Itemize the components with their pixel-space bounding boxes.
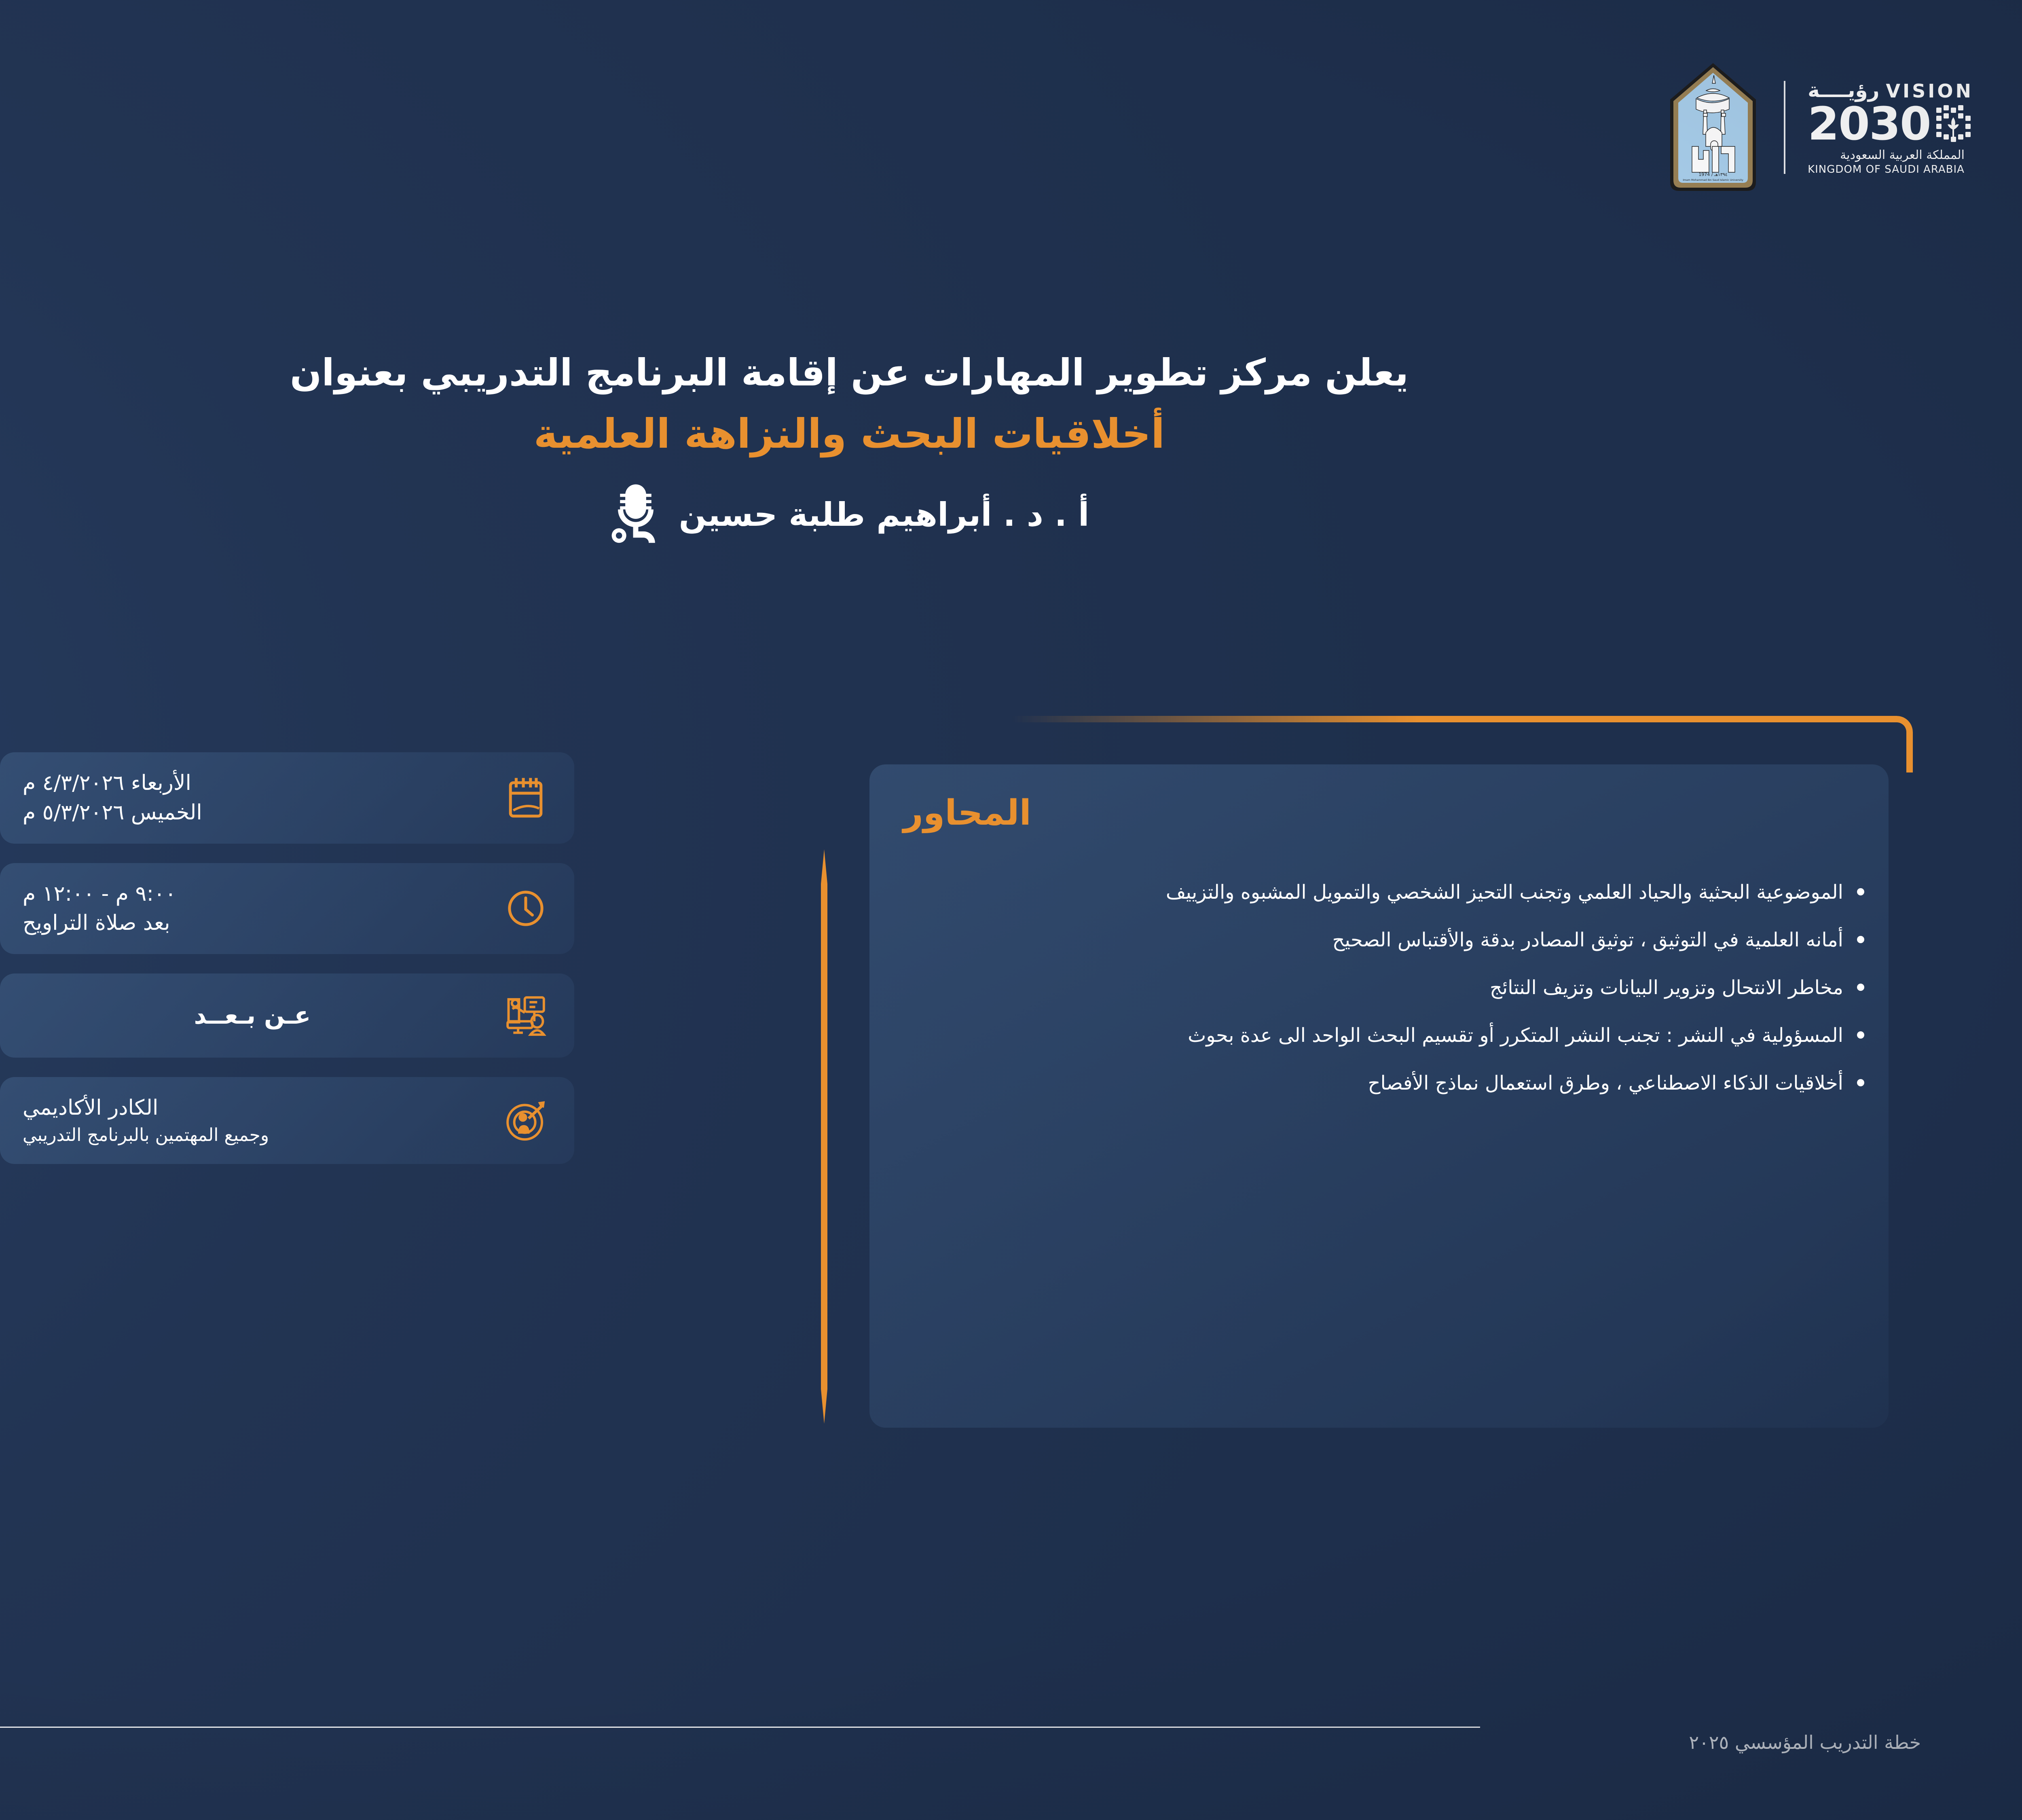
topic-item: الموضوعية البحثية والحياد العلمي وتجنب ا…	[910, 878, 1864, 907]
footer-divider-line	[0, 1727, 1480, 1728]
info-card-mode: عـن بـعــد	[0, 973, 574, 1058]
date-line-1: الأربعاء ٤/٣/٢٠٢٦ م	[23, 768, 482, 798]
topics-frame-top-border	[1011, 716, 1913, 772]
time-line-2: بعد صلاة التراويح	[23, 908, 482, 938]
audience-line-2: وجميع المهتمين بالبرنامج التدريبي	[23, 1123, 482, 1148]
topics-section: المحاور الموضوعية البحثية والحياد العلمي…	[821, 716, 1913, 1496]
vision-number: 2030	[1808, 105, 1931, 144]
imam-university-logo: ١٣٩٤هـ / 1974 Imam Mohammad Ibn Saud Isl…	[1665, 61, 1762, 194]
topics-frame-left-line	[821, 849, 827, 1424]
topics-list: الموضوعية البحثية والحياد العلمي وتجنب ا…	[910, 878, 1864, 1116]
program-title: أخلاقيات البحث والنزاهة العلمية	[0, 410, 1698, 457]
topics-title: المحاور	[869, 793, 1031, 833]
topic-text: أمانه العلمية في التوثيق ، توثيق المصادر…	[910, 925, 1843, 954]
topic-item: أمانه العلمية في التوثيق ، توثيق المصادر…	[910, 925, 1864, 954]
remote-presentation-icon	[500, 990, 552, 1041]
header-right-divider	[1784, 81, 1785, 174]
time-line-1: ٩:٠٠ م - ١٢:٠٠ م	[23, 879, 482, 909]
calendar-icon	[500, 772, 552, 824]
target-audience-icon	[500, 1094, 552, 1146]
speaker-name: أ . د . أبراهيم طلبة حسين	[679, 496, 1089, 533]
header-right-logos: VISION رؤيــــة	[1665, 61, 1973, 194]
topic-item: أخلاقيات الذكاء الاصطناعي ، وطرق استعمال…	[910, 1069, 1864, 1098]
vision-2030-logo: VISION رؤيــــة	[1808, 78, 1973, 177]
audience-line-1: الكادر الأكاديمي	[23, 1093, 482, 1123]
university-name-en: Imam Mohammad Ibn Saud Islamic Universit…	[1683, 178, 1743, 182]
training-plan-label: خطة التدريب المؤسسي ٢٠٢٥	[1689, 1731, 1921, 1753]
date-card-text: الأربعاء ٤/٣/٢٠٢٦ م الخميس ٥/٣/٢٠٢٦ م	[23, 768, 482, 827]
info-card-audience: الكادر الأكاديمي وجميع المهتمين بالبرنام…	[0, 1077, 574, 1164]
bullet-icon	[1857, 1031, 1864, 1039]
mode-line-1: عـن بـعــد	[23, 999, 482, 1033]
vision-kingdom-en: KINGDOM OF SAUDI ARABIA	[1808, 163, 1965, 177]
time-card-text: ٩:٠٠ م - ١٢:٠٠ م بعد صلاة التراويح	[23, 879, 482, 938]
bullet-icon	[1857, 984, 1864, 991]
topic-item: مخاطر الانتحال وتزوير البيانات وتزيف الن…	[910, 973, 1864, 1002]
bullet-icon	[1857, 936, 1864, 943]
announcement-block: يعلن مركز تطوير المهارات عن إقامة البرنا…	[0, 348, 1698, 546]
audience-card-text: الكادر الأكاديمي وجميع المهتمين بالبرنام…	[23, 1093, 482, 1147]
bullet-icon	[1857, 888, 1864, 895]
vision-kingdom-ar: المملكة العربية السعودية	[1808, 147, 1965, 163]
topic-text: مخاطر الانتحال وتزوير البيانات وتزيف الن…	[910, 973, 1843, 1002]
topic-item: المسؤولية في النشر : تجنب النشر المتكرر …	[910, 1021, 1864, 1050]
announcement-intro: يعلن مركز تطوير المهارات عن إقامة البرنا…	[0, 348, 1698, 398]
info-card-time: ٩:٠٠ م - ١٢:٠٠ م بعد صلاة التراويح	[0, 863, 574, 954]
info-card-date: الأربعاء ٤/٣/٢٠٢٦ م الخميس ٥/٣/٢٠٢٦ م	[0, 752, 574, 844]
poster-footer: dad@imamu.edu.sa eduDevelopment خطة التد…	[0, 1674, 2022, 1820]
topic-text: المسؤولية في النشر : تجنب النشر المتكرر …	[910, 1021, 1843, 1050]
poster-header: مـــركــــــز تطوير المهارات وكــالة الج…	[0, 0, 2022, 315]
university-year: ١٣٩٤هـ / 1974	[1698, 172, 1727, 177]
date-line-2: الخميس ٥/٣/٢٠٢٦ م	[23, 798, 482, 827]
info-cards: الأربعاء ٤/٣/٢٠٢٦ م الخميس ٥/٣/٢٠٢٦ م ٩:…	[0, 752, 574, 1164]
poster-canvas: مـــركــــــز تطوير المهارات وكــالة الج…	[0, 0, 2022, 1820]
clock-icon	[500, 882, 552, 934]
topic-text: أخلاقيات الذكاء الاصطناعي ، وطرق استعمال…	[910, 1069, 1843, 1098]
mode-card-text: عـن بـعــد	[23, 999, 482, 1033]
bullet-icon	[1857, 1079, 1864, 1086]
speaker-row: أ . د . أبراهيم طلبة حسين	[0, 483, 1698, 546]
vision-emblem-icon	[1935, 104, 1973, 146]
topic-text: الموضوعية البحثية والحياد العلمي وتجنب ا…	[910, 878, 1843, 907]
microphone-icon	[609, 483, 662, 546]
